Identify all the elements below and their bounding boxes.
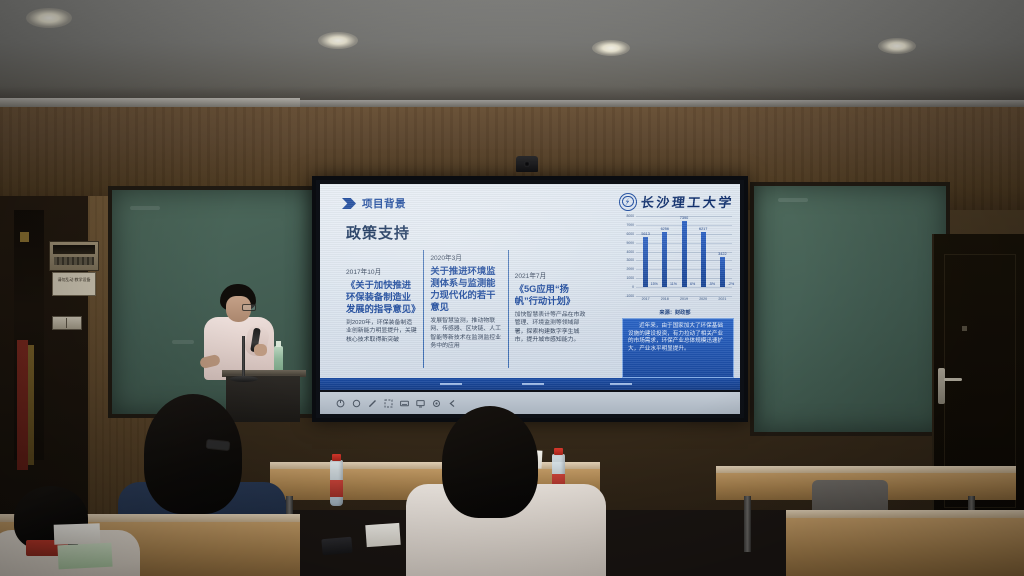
chart-growth-label: 11% <box>670 282 677 286</box>
banner-red-strip <box>17 340 28 470</box>
microphone-stand <box>242 336 245 380</box>
chart-y-tick-label: 7000 <box>626 223 634 227</box>
bottle-label <box>330 480 343 497</box>
chart-y-tick-label: 3000 <box>626 258 634 262</box>
slide-kicker: 项目背景 <box>342 196 406 211</box>
chart-bar-value: 6217 <box>699 227 707 231</box>
chart-y-tick-label: 0 <box>632 285 634 289</box>
door-lever[interactable] <box>944 378 962 381</box>
power-icon[interactable] <box>336 399 345 408</box>
ceiling-camera-icon <box>516 156 538 172</box>
chart-growth-label: -2% <box>728 282 734 286</box>
chart-y-tick-label: 6000 <box>626 232 634 236</box>
chart-bar <box>720 257 725 287</box>
wall-trim-left <box>0 98 300 107</box>
policy-body: 到2020年，环保装备制造业创新能力明显提升，关键核心技术取得新突破 <box>346 319 417 344</box>
banner-gold-strip <box>28 345 34 465</box>
chart-x-tick-label: 2019 <box>680 297 688 301</box>
university-seal-icon <box>619 193 637 211</box>
banner-ornament <box>20 232 29 242</box>
policy-columns: 2017年10月 《关于加快推进环保装备制造业发展的指导意见》 到2020年，环… <box>340 250 592 368</box>
policy-heading: 关于推进环境监测体系与监测能力现代化的若干意见 <box>430 265 501 313</box>
policy-column: 2020年3月 关于推进环境监测体系与监测能力现代化的若干意见 发展智慧监测，推… <box>423 250 507 368</box>
policy-date: 2021年7月 <box>515 270 586 280</box>
slide-title: 政策支持 <box>346 222 410 243</box>
chart-y-tick-label: 2000 <box>626 267 634 271</box>
policy-date: 2017年10月 <box>346 266 417 276</box>
circle-icon[interactable] <box>352 399 361 408</box>
equipment-notice-text: 请勿乱动 教学设备 <box>53 273 95 283</box>
chart-y-tick-label: 4000 <box>626 250 634 254</box>
smartphone[interactable] <box>321 537 352 556</box>
policy-date: 2020年3月 <box>430 252 501 262</box>
audience-front-center <box>398 406 588 576</box>
bottle-cap <box>332 454 341 461</box>
paper-sheet <box>365 523 400 547</box>
policy-column: 2021年7月 《5G应用“扬帆”行动计划》 加快智慧表计等产品在市政管理、环境… <box>508 250 592 368</box>
select-icon[interactable] <box>384 399 393 408</box>
door-handle[interactable] <box>938 368 945 404</box>
chevron-marker-icon <box>342 198 356 209</box>
chart-bar <box>682 221 687 287</box>
slide-callout-box: 近年来，由于国家加大了环保基础设施的建设投资，有力拉动了相关产业的市场需求，环保… <box>622 318 734 378</box>
slide-callout-text: 近年来，由于国家加大了环保基础设施的建设投资，有力拉动了相关产业的市场需求，环保… <box>628 323 728 353</box>
desk-leg <box>744 496 751 552</box>
chart-growth-label: 15% <box>651 282 658 286</box>
ceiling-downlight-icon <box>26 8 72 28</box>
chart-y-tick-label: -1000 <box>625 294 634 298</box>
door-peephole <box>962 326 967 331</box>
chart-bar <box>643 237 648 287</box>
slide-content: 项目背景 长沙理工大学 政策支持 2017年10月 《关于加快推进环保装备制造业… <box>320 184 740 390</box>
chart-source-label: 来源：财政部 <box>616 309 734 316</box>
presenter-hand <box>254 344 267 356</box>
chart-bar-value: 6256 <box>661 227 669 231</box>
chart-growth-label: -5% <box>709 282 715 286</box>
ceiling-downlight-icon <box>592 40 630 56</box>
chart-bar <box>662 232 667 288</box>
university-name: 长沙理工大学 <box>640 192 735 211</box>
chart-growth-label: 6% <box>690 282 695 286</box>
microphone-base <box>230 376 258 382</box>
chart-bar-value: 3422 <box>718 252 726 256</box>
light-switch-panel[interactable] <box>52 316 82 330</box>
desk-right-front <box>786 516 1024 576</box>
audience-hair <box>144 394 242 514</box>
chart-y-tick-label: 5000 <box>626 241 634 245</box>
chart-bar-value: 7390 <box>680 216 688 220</box>
ceiling-downlight-icon <box>318 32 358 49</box>
policy-heading: 《关于加快推进环保装备制造业发展的指导意见》 <box>346 279 417 315</box>
slide-footer-bar <box>320 378 740 390</box>
presenter-glasses <box>242 304 256 311</box>
desk-edge <box>716 466 1016 473</box>
chart-plot-area: -100001000200030004000500060007000800056… <box>636 216 732 296</box>
control-panel-keys[interactable] <box>54 257 94 265</box>
paper-sheet <box>54 523 101 545</box>
chart-x-tick-label: 2020 <box>699 297 707 301</box>
ceiling-downlight-icon <box>878 38 916 54</box>
presenter <box>202 284 276 380</box>
slide-kicker-label: 项目背景 <box>362 196 406 211</box>
desk-edge <box>786 510 1024 518</box>
policy-column: 2017年10月 《关于加快推进环保装备制造业发展的指导意见》 到2020年，环… <box>340 250 423 368</box>
policy-heading: 《5G应用“扬帆”行动计划》 <box>515 283 586 307</box>
chart-bar <box>701 232 706 287</box>
pen-icon[interactable] <box>368 399 377 408</box>
university-logo: 长沙理工大学 <box>619 192 734 211</box>
wall-control-panel[interactable] <box>49 241 99 271</box>
equipment-notice-sign: 请勿乱动 教学设备 <box>52 272 96 296</box>
chart-y-tick-label: 1000 <box>626 276 634 280</box>
policy-body: 发展智慧监测，推动物联网、传感器、区块链、人工智能等新技术在监测监控业务中的应用 <box>430 317 501 351</box>
investment-bar-chart: -100001000200030004000500060007000800056… <box>616 214 734 312</box>
chart-x-tick-label: 2021 <box>718 297 726 301</box>
policy-body: 加快智慧表计等产品在市政管理、环境监测等领域部署，探索构建数字孪生城市，提升城市… <box>515 311 586 345</box>
water-bottle <box>330 460 343 506</box>
chart-y-tick-label: 8000 <box>626 214 634 218</box>
control-panel-display <box>53 245 95 254</box>
blackboard-right <box>750 182 950 436</box>
chart-x-tick-label: 2017 <box>642 297 650 301</box>
audience-hair <box>442 406 538 518</box>
classroom-scene: 请勿乱动 教学设备 项目背景 长沙理工大学 政策支持 2017 <box>0 0 1024 576</box>
chart-x-tick-label: 2018 <box>661 297 669 301</box>
notebook <box>57 543 112 570</box>
chart-gridline: 0 <box>636 287 732 288</box>
chart-bar-value: 5613 <box>641 232 649 236</box>
presentation-display[interactable]: 项目背景 长沙理工大学 政策支持 2017年10月 《关于加快推进环保装备制造业… <box>312 176 748 422</box>
